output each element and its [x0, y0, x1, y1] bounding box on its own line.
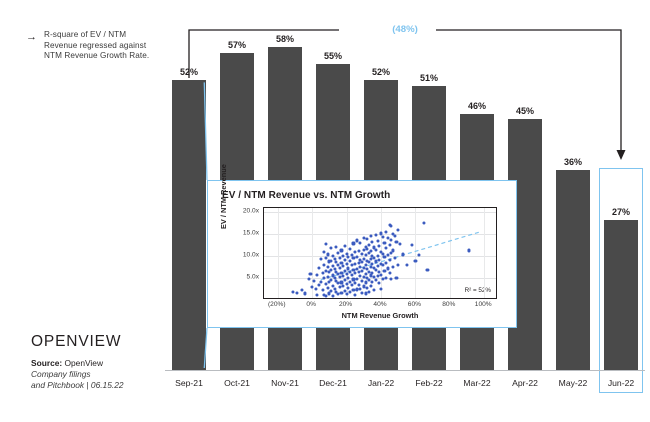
bar-value-label: 46%: [453, 101, 501, 111]
highlight-box-jun22: [599, 168, 643, 393]
inset-x-tick-label: 40%: [373, 301, 386, 308]
x-axis-label: Jan-22: [357, 374, 405, 394]
inset-y-axis-label: EV / NTM Revenue: [219, 164, 228, 229]
arrow-right-icon: →: [26, 30, 37, 43]
inset-x-tick-label: 0%: [306, 301, 316, 308]
bar-value-label: 52%: [357, 67, 405, 77]
annotation-text: R-square of EV / NTM Revenue regressed a…: [44, 30, 154, 62]
bar-value-label: 58%: [261, 34, 309, 44]
inset-x-axis-label: NTM Revenue Growth: [263, 311, 497, 320]
x-axis-label: Nov-21: [261, 374, 309, 394]
bar-value-label: 57%: [213, 40, 261, 50]
x-axis-label: May-22: [549, 374, 597, 394]
slide-canvas: → R-square of EV / NTM Revenue regressed…: [0, 0, 650, 422]
inset-scatter-box: R² = 52%: [263, 207, 497, 299]
inset-x-tick-label: 80%: [442, 301, 455, 308]
x-axis-labels: Sep-21Oct-21Nov-21Dec-21Jan-22Feb-22Mar-…: [165, 374, 645, 394]
x-axis-line: [165, 370, 645, 371]
bar-group: 52%: [165, 8, 213, 370]
brand-block: OPENVIEW Source: OpenView Company filing…: [31, 333, 181, 392]
inset-y-tick-label: 10.0x: [243, 252, 259, 259]
x-axis-label: Dec-21: [309, 374, 357, 394]
inset-y-ticks: 5.0x10.0x15.0x20.0x: [229, 207, 259, 299]
bar-value-label: 45%: [501, 106, 549, 116]
inset-x-tick-label: 60%: [408, 301, 421, 308]
bar-value-label: 52%: [165, 67, 213, 77]
bar: [172, 80, 207, 370]
inset-y-tick-label: 15.0x: [243, 230, 259, 237]
inset-y-tick-label: 20.0x: [243, 208, 259, 215]
x-axis-label: Mar-22: [453, 374, 501, 394]
inset-scatter-panel: EV / NTM Revenue vs. NTM Growth EV / NTM…: [207, 180, 517, 328]
inset-plot-area: EV / NTM Revenue 5.0x10.0x15.0x20.0x R² …: [221, 207, 509, 319]
source-value: OpenView: [62, 358, 103, 368]
annotation-block: → R-square of EV / NTM Revenue regressed…: [26, 30, 154, 62]
bar-value-label: 55%: [309, 51, 357, 61]
x-axis-label: Oct-21: [213, 374, 261, 394]
source-line-2: Company filings: [31, 369, 181, 380]
inset-y-tick-label: 5.0x: [247, 274, 259, 281]
callout-label: (48%): [387, 24, 423, 35]
x-axis-label: Sep-21: [165, 374, 213, 394]
source-line-3: and Pitchbook | 06.15.22: [31, 380, 181, 391]
source-label: Source:: [31, 358, 62, 368]
source-line-1: Source: OpenView: [31, 358, 181, 369]
openview-logo: OPENVIEW: [31, 333, 181, 351]
x-axis-label: Jun-22: [597, 374, 645, 394]
inset-x-tick-label: (20%): [268, 301, 286, 308]
bar-chart: 52%57%58%55%52%51%46%45%36%27% (48%) Sep…: [165, 8, 645, 393]
inset-title: EV / NTM Revenue vs. NTM Growth: [222, 190, 390, 201]
inset-x-tick-label: 100%: [475, 301, 492, 308]
x-axis-label: Apr-22: [501, 374, 549, 394]
inset-x-tick-label: 20%: [339, 301, 352, 308]
bar: [556, 170, 591, 370]
bar-value-label: 36%: [549, 157, 597, 167]
bar-value-label: 51%: [405, 73, 453, 83]
source-block: Source: OpenView Company filings and Pit…: [31, 358, 181, 392]
x-axis-label: Feb-22: [405, 374, 453, 394]
bar-group: 36%: [549, 8, 597, 370]
